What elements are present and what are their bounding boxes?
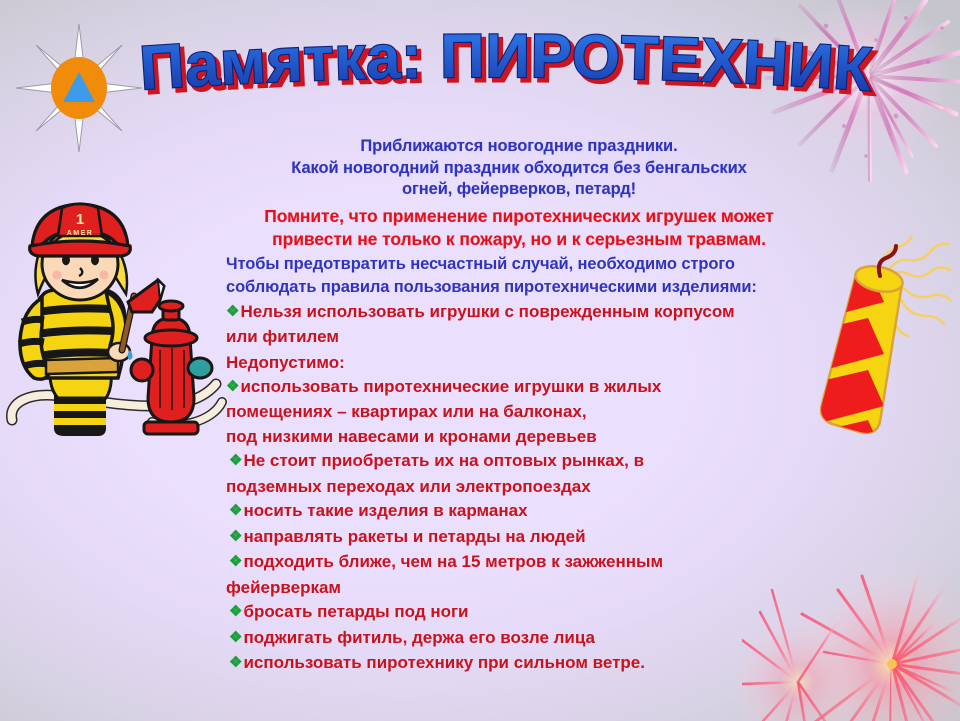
rule-text: Нельзя использовать игрушки с поврежденн… <box>240 302 734 321</box>
prohibited-text: направлять ракеты и петарды на людей <box>243 527 585 546</box>
intro-line: Приближаются новогодние праздники. <box>226 136 812 158</box>
diamond-bullet-icon: ❖ <box>226 300 239 325</box>
diamond-bullet-icon: ❖ <box>226 375 239 400</box>
instruction-line: Чтобы предотвратить несчастный случай, н… <box>226 253 812 276</box>
rule-item: ❖Нельзя использовать игрушки с поврежден… <box>226 300 812 326</box>
title-main-text: Памятка: ПИРОТЕХНИКА <box>103 0 874 105</box>
prohibited-item: ❖бросать петарды под ноги <box>226 600 812 626</box>
poster-slide: 1 AMER <box>0 0 960 721</box>
emercom-star-emblem-icon <box>14 22 144 154</box>
diamond-bullet-icon: ❖ <box>229 525 242 550</box>
intro-line: Какой новогодний праздник обходится без … <box>226 158 812 180</box>
diamond-bullet-icon: ❖ <box>229 449 242 474</box>
intro-line: огней, фейерверков, петард! <box>226 179 812 201</box>
section-heading: Недопустимо: <box>226 350 812 375</box>
intro-block: Приближаются новогодние праздники. Какой… <box>226 136 812 201</box>
prohibited-text: бросать петарды под ноги <box>243 602 468 621</box>
prohibited-text: использовать пиротехнику при сильном вет… <box>243 653 645 672</box>
firefighter-child-clipart: 1 AMER <box>2 192 230 442</box>
prohibited-item: ❖носить такие изделия в карманах <box>226 499 812 525</box>
prohibited-item-continuation: подземных переходах или электропоездах <box>226 475 812 500</box>
prohibited-item-continuation: фейерверкам <box>226 576 812 601</box>
prohibited-item: ❖использовать пиротехнику при сильном ве… <box>226 651 812 677</box>
warning-line: Помните, что применение пиротехнических … <box>226 205 812 228</box>
prohibited-item: ❖подходить ближе, чем на 15 метров к заж… <box>226 550 812 576</box>
warning-block: Помните, что применение пиротехнических … <box>226 205 812 251</box>
prohibited-item: ❖поджигать фитиль, держа его возле лица <box>226 626 812 652</box>
diamond-bullet-icon: ❖ <box>229 600 242 625</box>
svg-text:Памятка: ПИРОТЕХНИКА: Памятка: ПИРОТЕХНИКА <box>103 0 874 105</box>
prohibited-text: использовать пиротехнические игрушки в ж… <box>240 377 661 396</box>
diamond-bullet-icon: ❖ <box>229 626 242 651</box>
prohibited-item-continuation: под низкими навесами и кронами деревьев <box>226 425 812 450</box>
poster-body: Приближаются новогодние праздники. Какой… <box>226 136 812 677</box>
prohibited-text: поджигать фитиль, держа его возле лица <box>243 628 595 647</box>
diamond-bullet-icon: ❖ <box>229 651 242 676</box>
svg-text:1: 1 <box>76 211 84 228</box>
poster-title: Памятка: ПИРОТЕХНИКА Памятка: ПИРОТЕХНИК… <box>130 16 870 114</box>
diamond-bullet-icon: ❖ <box>229 550 242 575</box>
rules-block: ❖Нельзя использовать игрушки с поврежден… <box>226 300 812 677</box>
rule-item-continuation: или фитилем <box>226 325 812 350</box>
warning-line: привести не только к пожару, но и к серь… <box>226 228 812 251</box>
instruction-paragraph: Чтобы предотвратить несчастный случай, н… <box>226 253 812 299</box>
prohibited-text: Не стоит приобретать их на оптовых рынка… <box>243 451 644 470</box>
instruction-line: соблюдать правила пользования пиротехнич… <box>226 276 812 299</box>
prohibited-text: носить такие изделия в карманах <box>243 501 527 520</box>
firecracker-icon <box>798 236 958 448</box>
title-wordart-svg: Памятка: ПИРОТЕХНИКА Памятка: ПИРОТЕХНИК… <box>130 16 870 114</box>
svg-text:AMER: AMER <box>67 230 94 237</box>
prohibited-text: подходить ближе, чем на 15 метров к зажж… <box>243 552 663 571</box>
prohibited-item: ❖направлять ракеты и петарды на людей <box>226 525 812 551</box>
prohibited-item: ❖Не стоит приобретать их на оптовых рынк… <box>226 449 812 475</box>
diamond-bullet-icon: ❖ <box>229 499 242 524</box>
prohibited-item-continuation: помещениях – квартирах или на балконах, <box>226 400 812 425</box>
prohibited-item: ❖использовать пиротехнические игрушки в … <box>226 375 812 401</box>
